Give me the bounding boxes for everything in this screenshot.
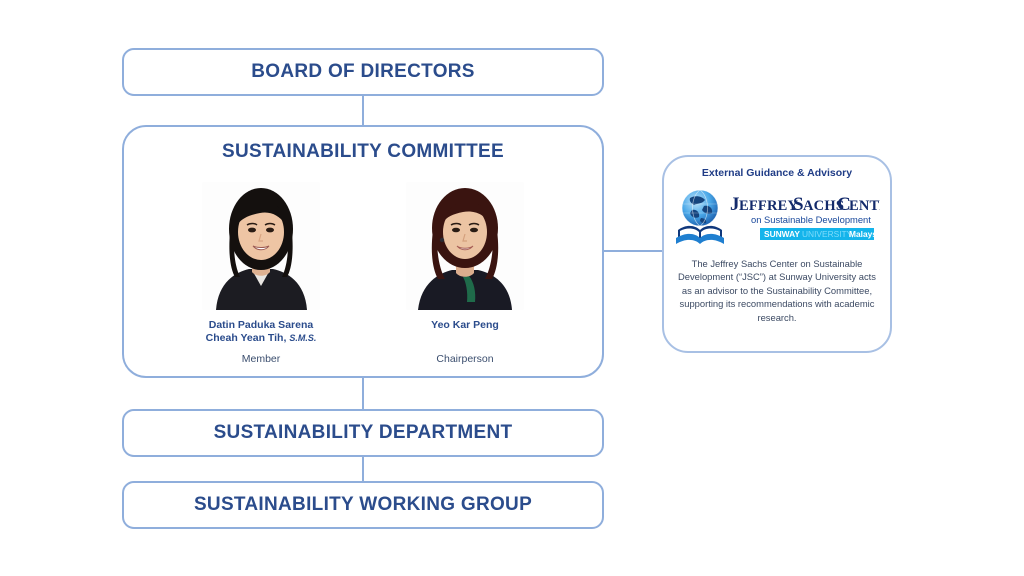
member-name: Datin Paduka Sarena Cheah Yean Tih, S.M.…: [206, 319, 317, 345]
org-chart-canvas: BOARD OF DIRECTORS SUSTAINABILITY COMMIT…: [0, 0, 1024, 576]
member-name-line-2: Cheah Yean Tih,: [206, 332, 287, 344]
committee-members-row: Datin Paduka Sarena Cheah Yean Tih, S.M.…: [124, 182, 602, 365]
member-name-line-1: Yeo Kar Peng: [431, 319, 499, 331]
sustainability-committee-box[interactable]: SUSTAINABILITY COMMITTEE: [122, 125, 604, 378]
member-portrait-photo: [202, 182, 320, 310]
svg-text:Malaysia: Malaysia: [849, 229, 880, 239]
connector-board-to-committee: [362, 94, 364, 127]
member-name: Yeo Kar Peng: [431, 319, 499, 332]
member-name-line-1: Datin Paduka Sarena: [209, 319, 313, 331]
sustainability-department-box[interactable]: SUSTAINABILITY DEPARTMENT: [122, 409, 604, 457]
member-portrait-photo: [406, 182, 524, 310]
sustainability-working-group-box[interactable]: SUSTAINABILITY WORKING GROUP: [122, 481, 604, 529]
sustainability-committee-title: SUSTAINABILITY COMMITTEE: [124, 141, 602, 163]
svg-text:ENTER: ENTER: [849, 198, 880, 214]
sustainability-department-title: SUSTAINABILITY DEPARTMENT: [214, 422, 513, 444]
member-role: Member: [242, 353, 281, 365]
member-name-suffix: S.M.S.: [289, 333, 316, 343]
sustainability-working-group-title: SUSTAINABILITY WORKING GROUP: [194, 494, 532, 516]
svg-text:EFFREY: EFFREY: [739, 198, 799, 214]
svg-text:SUNWAY: SUNWAY: [764, 229, 800, 239]
board-of-directors-title: BOARD OF DIRECTORS: [251, 61, 475, 83]
committee-member: Yeo Kar Peng Chairperson: [397, 182, 533, 365]
committee-member: Datin Paduka Sarena Cheah Yean Tih, S.M.…: [193, 182, 329, 365]
member-role: Chairperson: [436, 353, 493, 365]
connector-committee-to-department: [362, 376, 364, 411]
external-guidance-advisory-box[interactable]: External Guidance & Advisory: [662, 155, 892, 353]
external-advisory-description: The Jeffrey Sachs Center on Sustainable …: [676, 257, 878, 324]
connector-department-to-working-group: [362, 455, 364, 483]
svg-text:on Sustainable Development: on Sustainable Development: [751, 214, 871, 225]
board-of-directors-box[interactable]: BOARD OF DIRECTORS: [122, 48, 604, 96]
jeffrey-sachs-center-logo: J EFFREY S ACHS C ENTER on Sustainable D…: [674, 186, 880, 248]
external-guidance-heading: External Guidance & Advisory: [702, 167, 852, 179]
connector-committee-to-external-advisory: [602, 250, 664, 252]
svg-text:S: S: [793, 194, 804, 215]
svg-text:UNIVERSITY,: UNIVERSITY,: [802, 229, 854, 239]
